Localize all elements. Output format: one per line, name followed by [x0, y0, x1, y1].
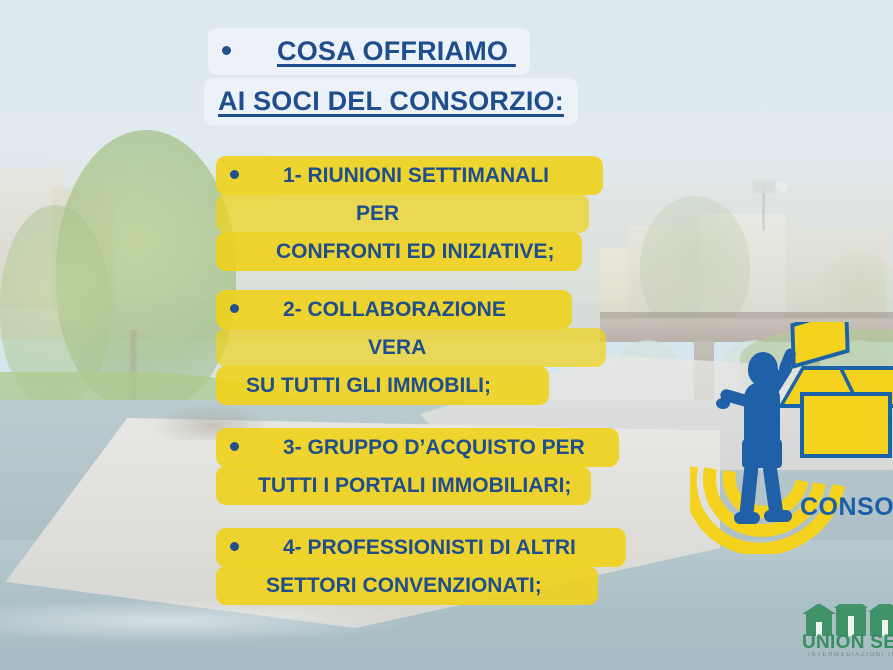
watermark-roof-2	[834, 604, 868, 608]
offer-item-1: 1- RIUNIONI SETTIMANALI PER CONFRONTI ED…	[216, 156, 603, 270]
bullet-icon	[230, 170, 239, 179]
watermark-subtitle: INTERMEDIAZIONI IMMOB	[808, 652, 893, 658]
offer-item-3-line-1: 3- GRUPPO D’ACQUISTO PER	[216, 428, 619, 467]
title-line-1-text: COSA OFFRIAMO	[277, 36, 516, 66]
child-silhouette-icon	[716, 338, 812, 538]
title-line-1: COSA OFFRIAMO	[208, 28, 530, 75]
watermark-roof-1	[802, 604, 836, 614]
offer-item-2-line-3: SU TUTTI GLI IMMOBILI;	[216, 366, 549, 405]
offer-item-4-line-1: 4- PROFESSIONISTI DI ALTRI	[216, 528, 626, 567]
bullet-icon	[230, 304, 239, 313]
offer-item-2-line-1-text: 2- COLLABORAZIONE	[283, 298, 506, 321]
offer-item-3-line-2: TUTTI I PORTALI IMMOBILIARI;	[216, 466, 591, 505]
offer-item-2-line-2: VERA	[216, 328, 606, 367]
house-body	[800, 392, 892, 458]
offer-item-3-line-1-text: 3- GRUPPO D’ACQUISTO PER	[283, 436, 585, 459]
offer-item-4: 4- PROFESSIONISTI DI ALTRI SETTORI CONVE…	[216, 528, 626, 604]
bullet-icon	[230, 442, 239, 451]
offer-item-3: 3- GRUPPO D’ACQUISTO PER TUTTI I PORTALI…	[216, 428, 619, 504]
bullet-icon	[230, 542, 239, 551]
logo-wordmark-line-1: CONSO	[800, 496, 893, 519]
consorzio-logo: CONSO SERVIZ IMMO PARMA	[690, 322, 893, 554]
child-hand	[716, 398, 730, 409]
offer-item-4-line-2: SETTORI CONVENZIONATI;	[216, 566, 598, 605]
union-servizi-watermark: UNION SERV INTERMEDIAZIONI IMMOB	[802, 604, 893, 666]
watermark-title: UNION SERV	[802, 632, 893, 654]
logo-wordmark: CONSO SERVIZ IMMO PARMA	[800, 450, 893, 554]
offer-item-2: 2- COLLABORAZIONE VERA SU TUTTI GLI IMMO…	[216, 290, 606, 404]
child-shoe-left	[734, 512, 760, 524]
offer-item-4-line-1-text: 4- PROFESSIONISTI DI ALTRI	[283, 536, 576, 559]
title-line-2: AI SOCI DEL CONSORZIO:	[204, 78, 578, 125]
child-leg-left	[739, 461, 759, 518]
slide-title: COSA OFFRIAMO AI SOCI DEL CONSORZIO:	[208, 28, 678, 125]
title-line-2-text: AI SOCI DEL CONSORZIO:	[218, 86, 564, 116]
offer-item-2-line-1: 2- COLLABORAZIONE	[216, 290, 572, 329]
child-shoe-right	[764, 510, 792, 522]
offer-item-1-line-1-text: 1- RIUNIONI SETTIMANALI	[283, 164, 549, 187]
offer-item-1-line-2: PER	[216, 194, 589, 233]
slide-canvas: COSA OFFRIAMO AI SOCI DEL CONSORZIO: 1- …	[0, 0, 893, 670]
offer-item-1-line-1: 1- RIUNIONI SETTIMANALI	[216, 156, 603, 195]
bullet-icon	[222, 46, 231, 55]
child-raised-forearm	[778, 347, 798, 375]
offer-item-1-line-3: CONFRONTI ED INIZIATIVE;	[216, 232, 582, 271]
watermark-roof-3	[868, 604, 893, 612]
